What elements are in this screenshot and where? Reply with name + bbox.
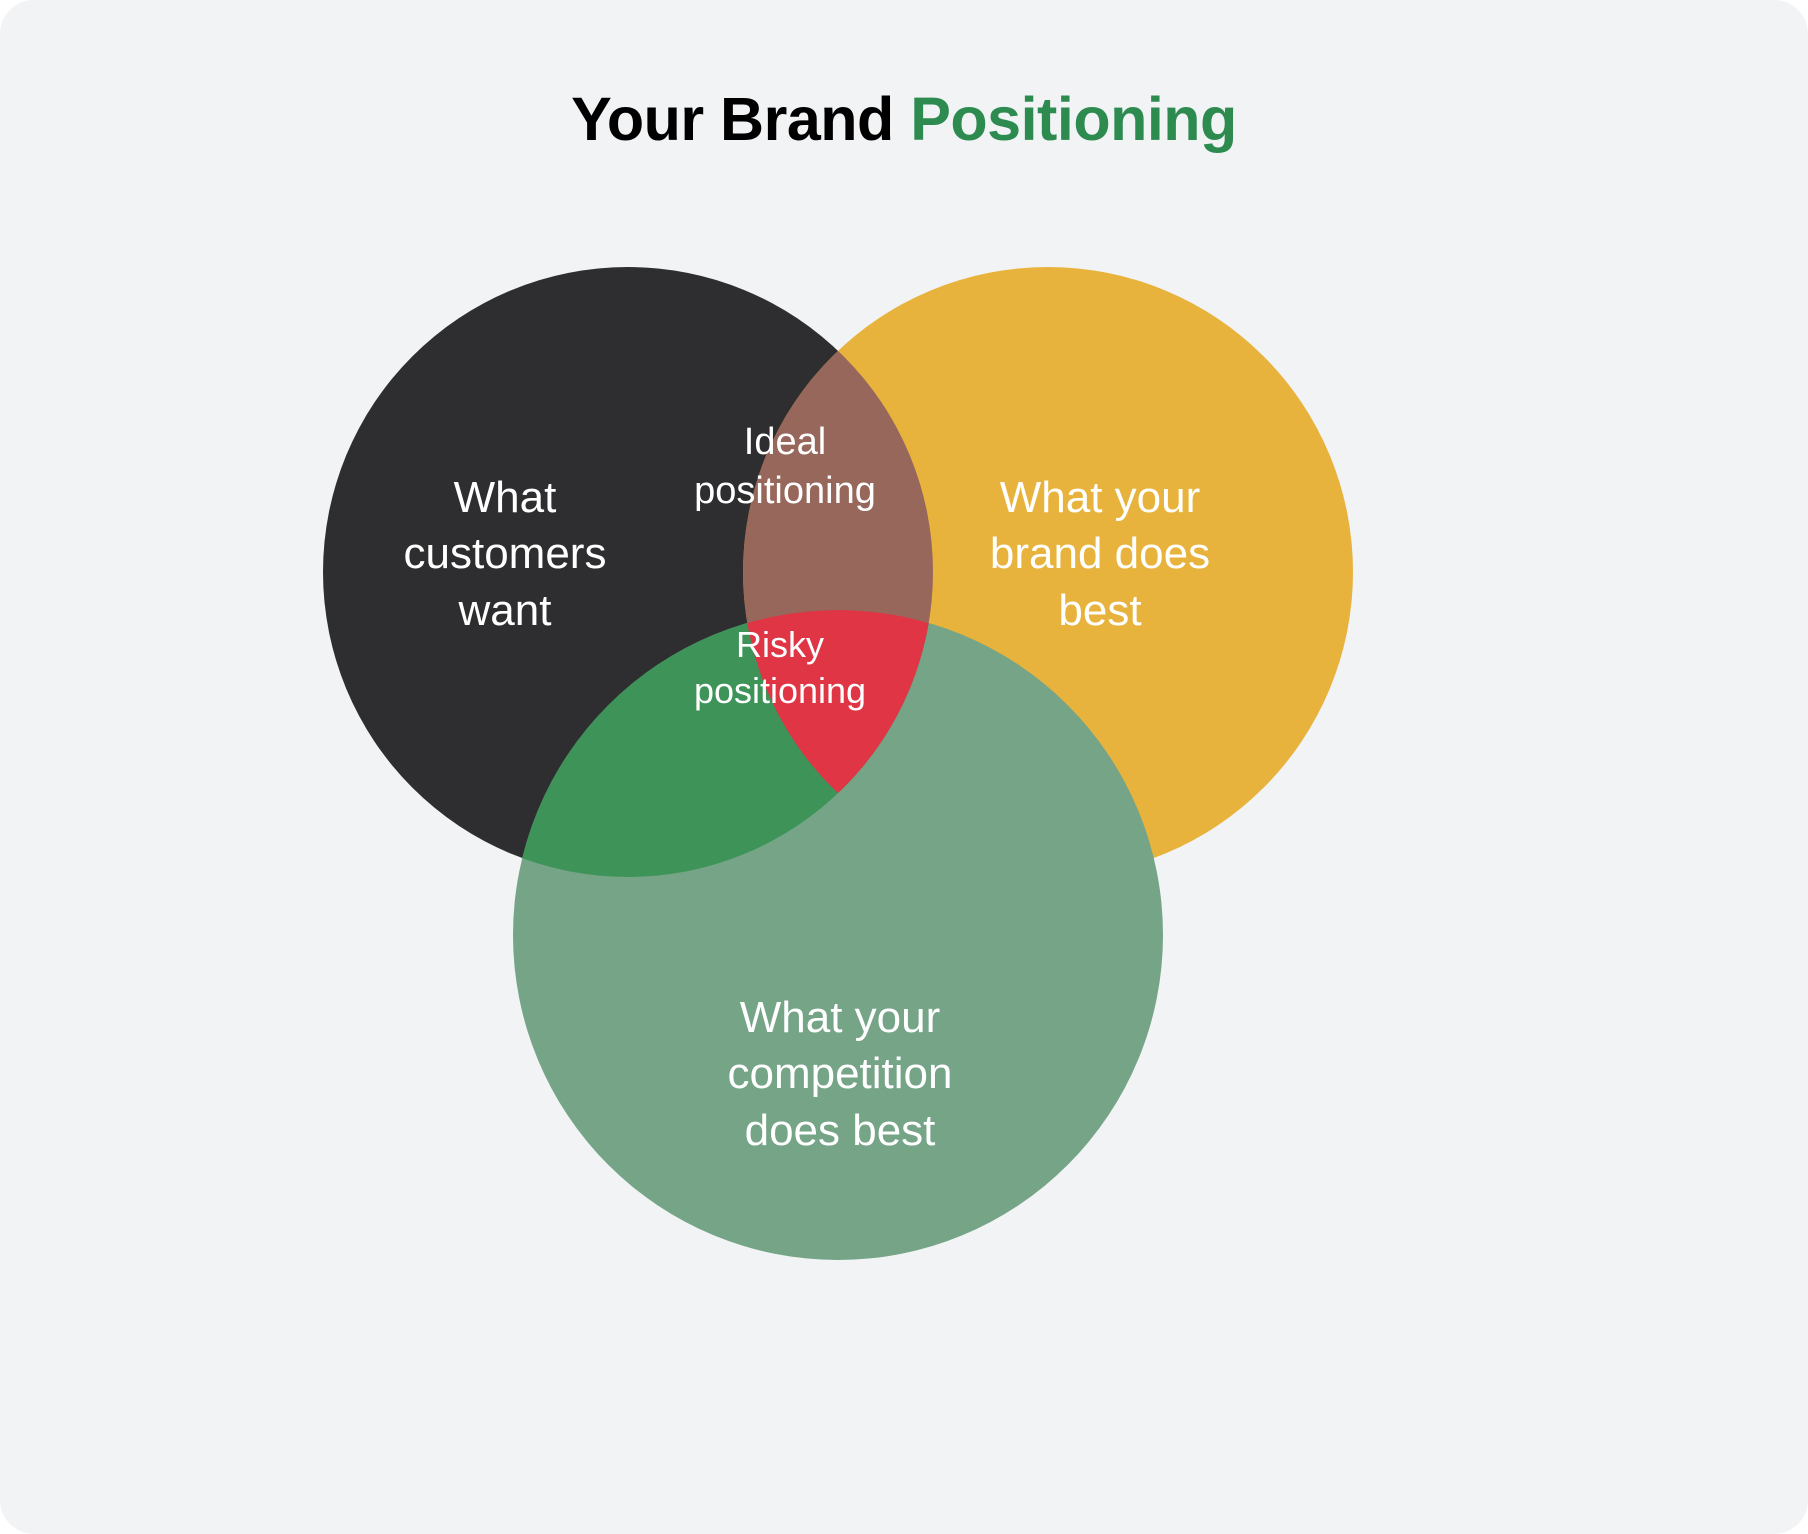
diagram-card: Your Brand Positioning What customers wa…	[0, 0, 1808, 1534]
venn-diagram	[0, 0, 1808, 1534]
